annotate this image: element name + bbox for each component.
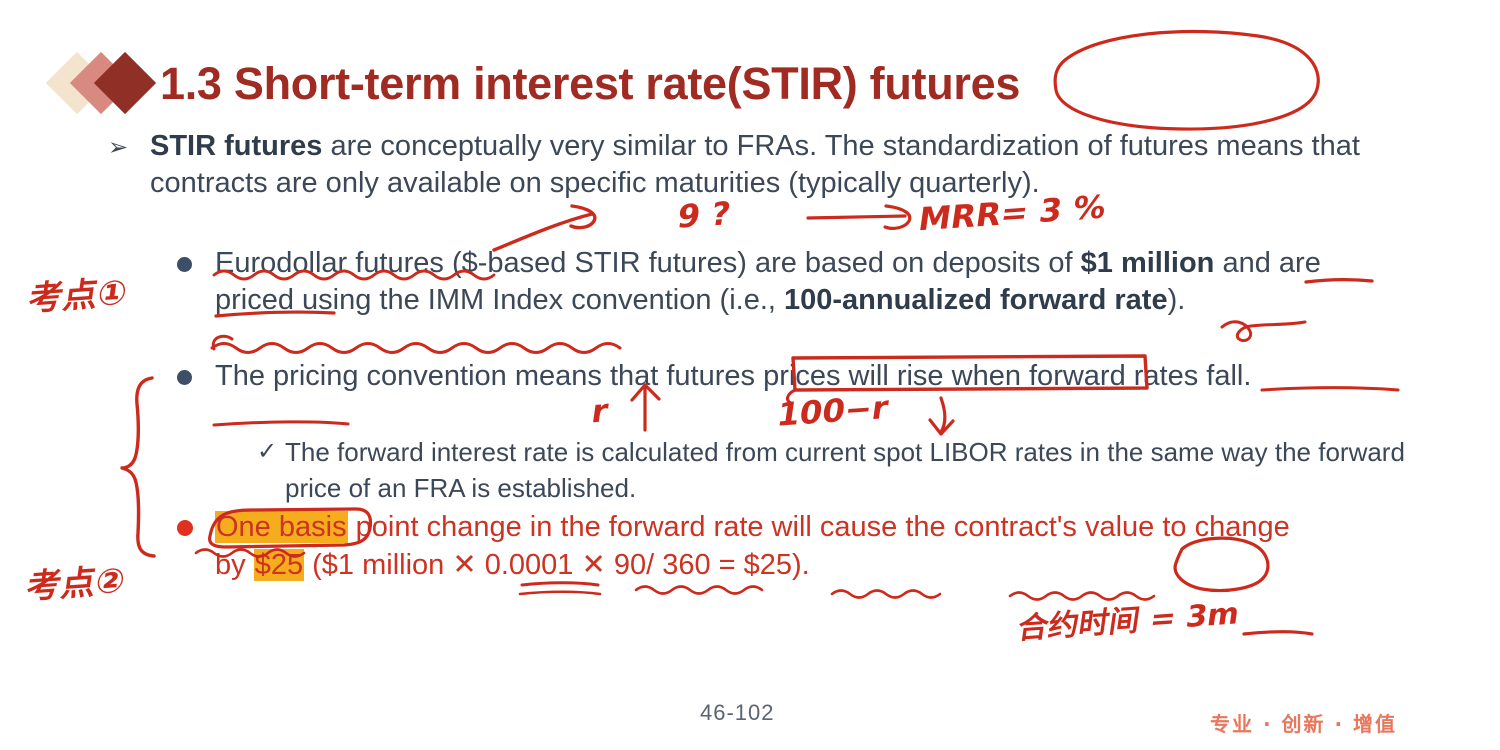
pricing-text-a: The pricing convention means that [215,360,666,392]
round-bullet-icon [177,257,192,272]
annotation-100-minus-r: 100−r [778,392,887,430]
highlight-25-dollars: $25 [254,549,304,581]
bullet-level2-pricing-convention: The pricing convention means that future… [215,358,1395,395]
brand-tagline: 专业 · 创新 · 增值 [1210,708,1397,737]
annotation-exam-point-2: 考点② [28,556,125,605]
bullet-level1-text: are conceptually very similar to FRAs. T… [150,130,1360,199]
annotation-97: 9 ? [678,196,730,234]
slide-canvas: 1.3 Short-term interest rate(STIR) futur… [0,0,1500,750]
check-bullet-icon: ✓ [257,434,277,470]
eurodollar-text-a: ($-based STIR futures) are based on depo… [444,247,1081,279]
one-million-bold: $1 million [1081,247,1215,279]
annotation-r-symbol: r [592,392,608,430]
arrow-bullet-icon: ➢ [108,129,128,166]
bullet-red-basis-point: One basis point change in the forward ra… [215,508,1325,584]
round-bullet-icon [177,370,192,385]
imm-formula-bold: 100-annualized forward rate [784,284,1168,316]
annotation-exam-point-1: 考点① [30,268,127,317]
eurodollar-text-end: ). [1168,284,1186,316]
page-number: 46-102 [700,700,775,726]
slide-body: ➢ STIR futures are conceptually very sim… [0,0,1500,750]
bullet-level1-lead: STIR futures [150,130,322,162]
bullet-level3-forward-rate: ✓ The forward interest rate is calculate… [285,434,1405,506]
basis-point-text-b: ($1 million ✕ 0.0001 ✕ 90/ 360 = $25). [304,549,810,581]
highlight-one-basis: One basis [215,511,348,543]
eurodollar-term: Eurodollar futures [215,247,444,279]
boxed-phrase-futures-rise: futures prices will rise [666,360,943,392]
bullet-level2-eurodollar: Eurodollar futures ($-based STIR futures… [215,245,1345,319]
bullet-level1-stir-futures: ➢ STIR futures are conceptually very sim… [150,128,1380,202]
annotation-contract-period: 合约时间 = 3m [1020,596,1238,640]
annotation-mrr-3pct: MRR= 3 % [920,194,1105,232]
pricing-text-b: when forward rates fall. [944,360,1252,392]
bullet-level3-text: The forward interest rate is calculated … [285,437,1405,503]
round-bullet-icon [177,520,193,536]
